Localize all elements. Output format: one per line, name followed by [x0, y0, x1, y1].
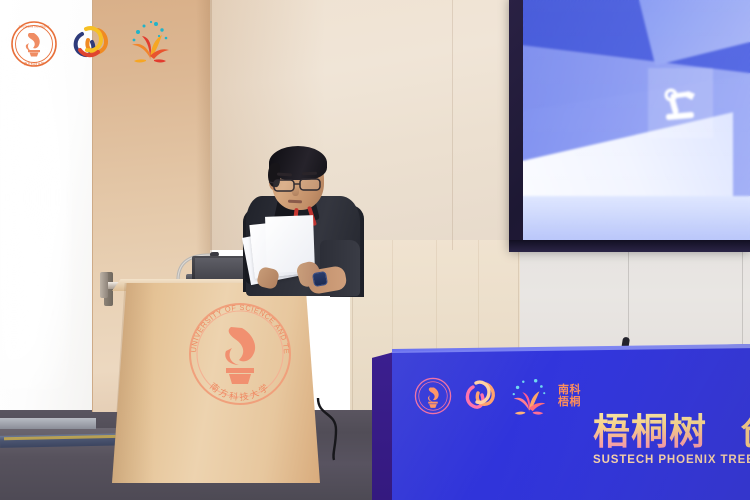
- slide-shape-bottom-band: [523, 196, 750, 240]
- banner-title-block: 梧桐树 SUSTECH PHOENIX TREE: [593, 413, 750, 466]
- robotic-arm-icon: [661, 84, 703, 126]
- speaker-nose: [292, 186, 299, 196]
- av-cable: [316, 396, 364, 462]
- lectern-sustech-emblem: SOUTHERN UNIVERSITY OF SCIENCE AND TECHN…: [186, 300, 294, 408]
- svg-text:SOUTHERN UNIVERSITY OF SCIENCE: SOUTHERN UNIVERSITY OF SCIENCE AND TECHN…: [186, 300, 291, 355]
- banner-title-en: SUSTECH PHOENIX TREE: [593, 454, 750, 466]
- door-push-bar-bracket: [100, 272, 108, 298]
- window-glare: [0, 40, 70, 390]
- ribbon-knot-logo: [68, 20, 114, 64]
- projection-screen-bottom-bezel: [509, 240, 750, 252]
- phoenix-tree-sprout-logo: [126, 18, 174, 66]
- projection-screen: [523, 0, 750, 240]
- baseboard: [0, 418, 96, 429]
- banner-sustech-seal-logo: [414, 377, 452, 415]
- svg-text:南方科技大学: 南方科技大学: [24, 61, 45, 66]
- banner-ribbon-knot-logo: [460, 376, 500, 416]
- svg-text:SOUTHERN UNIVERSITY: SOUTHERN UNIVERSITY: [19, 25, 50, 29]
- banner-logo-row: 南科 梧桐 南科 梧桐: [414, 372, 594, 420]
- banner-title-cn: 梧桐树: [593, 413, 750, 450]
- sustech-seal-logo: SOUTHERN UNIVERSITY 南方科技大学: [10, 20, 58, 68]
- banner-side-panel: [372, 352, 394, 500]
- wristwatch: [312, 271, 328, 287]
- banner-nanke-wutong-logo: 南科 梧桐 南科 梧桐: [558, 384, 581, 407]
- banner-title-cn-overflow: 创: [741, 415, 750, 451]
- lectern-emblem-en-text: SOUTHERN UNIVERSITY OF SCIENCE AND TECHN…: [186, 300, 291, 355]
- speaker-eyebrow-right: [302, 172, 317, 176]
- conference-photo-scene: SOUTHERN UNIVERSITY 南方科技大学: [0, 0, 750, 500]
- banner-phoenix-sprout-logo: [508, 376, 550, 416]
